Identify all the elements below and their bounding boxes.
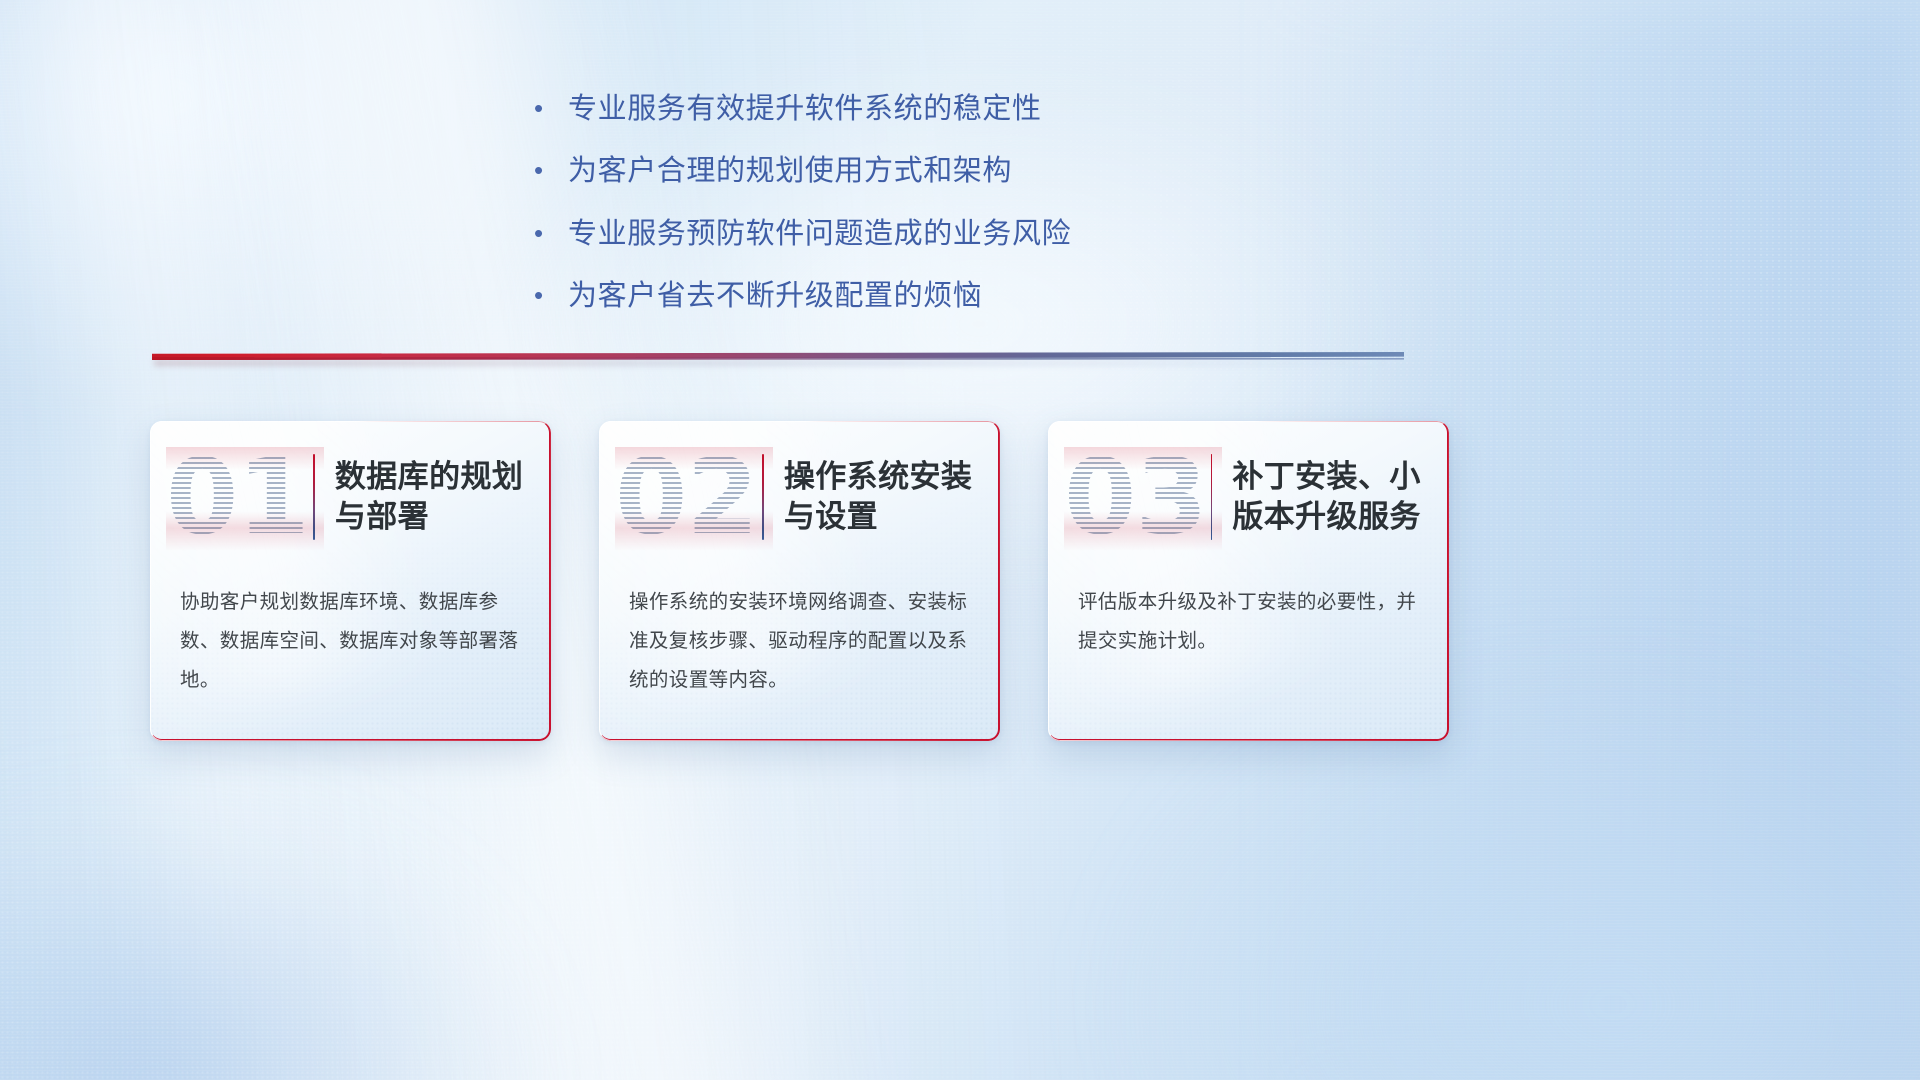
service-card-group: 01 数据库的规划与部署 协助客户规划数据库环境、数据库参数、数据库空间、数据库… xyxy=(150,421,1449,741)
bullet-text: 专业服务预防软件问题造成的业务风险 xyxy=(568,215,1434,253)
list-item: • 为客户省去不断升级配置的烦恼 xyxy=(534,277,1434,315)
card-body-text: 操作系统的安装环境网络调查、安装标准及复核步骤、驱动程序的配置以及系统的设置等内… xyxy=(599,573,1000,700)
bullet-marker-icon: • xyxy=(534,277,568,315)
list-item: • 专业服务预防软件问题造成的业务风险 xyxy=(534,215,1434,253)
card-accent-bar xyxy=(313,454,315,540)
list-item: • 为客户合理的规划使用方式和架构 xyxy=(534,152,1434,190)
bullet-marker-icon: • xyxy=(534,90,568,128)
bullet-text: 专业服务有效提升软件系统的稳定性 xyxy=(568,90,1434,128)
card-body-text: 协助客户规划数据库环境、数据库参数、数据库空间、数据库对象等部署落地。 xyxy=(150,573,551,700)
card-number-watermark: 01 xyxy=(166,445,309,549)
service-card-03[interactable]: 03 补丁安装、小版本升级服务 评估版本升级及补丁安装的必要性，并提交实施计划。 xyxy=(1048,421,1449,741)
card-number-watermark: 03 xyxy=(1064,445,1207,549)
section-divider xyxy=(152,348,1404,364)
card-header: 02 操作系统安装与设置 xyxy=(599,421,1000,573)
card-accent-bar xyxy=(1211,454,1213,540)
service-card-02[interactable]: 02 操作系统安装与设置 操作系统的安装环境网络调查、安装标准及复核步骤、驱动程… xyxy=(599,421,1000,741)
bullet-marker-icon: • xyxy=(534,152,568,190)
card-header: 01 数据库的规划与部署 xyxy=(150,421,551,573)
service-card-01[interactable]: 01 数据库的规划与部署 协助客户规划数据库环境、数据库参数、数据库空间、数据库… xyxy=(150,421,551,741)
list-item: • 专业服务有效提升软件系统的稳定性 xyxy=(534,90,1434,128)
card-title: 数据库的规划与部署 xyxy=(335,457,551,538)
card-number-watermark: 02 xyxy=(615,445,758,549)
bullet-text: 为客户合理的规划使用方式和架构 xyxy=(568,152,1434,190)
card-body-text: 评估版本升级及补丁安装的必要性，并提交实施计划。 xyxy=(1048,573,1449,661)
bullet-text: 为客户省去不断升级配置的烦恼 xyxy=(568,277,1434,315)
card-title: 补丁安装、小版本升级服务 xyxy=(1232,457,1449,538)
benefits-bullet-list: • 专业服务有效提升软件系统的稳定性 • 为客户合理的规划使用方式和架构 • 专… xyxy=(534,90,1434,339)
card-title: 操作系统安装与设置 xyxy=(784,457,1000,538)
card-accent-bar xyxy=(762,454,764,540)
divider-shadow xyxy=(154,360,1393,366)
card-header: 03 补丁安装、小版本升级服务 xyxy=(1048,421,1449,573)
bullet-marker-icon: • xyxy=(534,215,568,253)
